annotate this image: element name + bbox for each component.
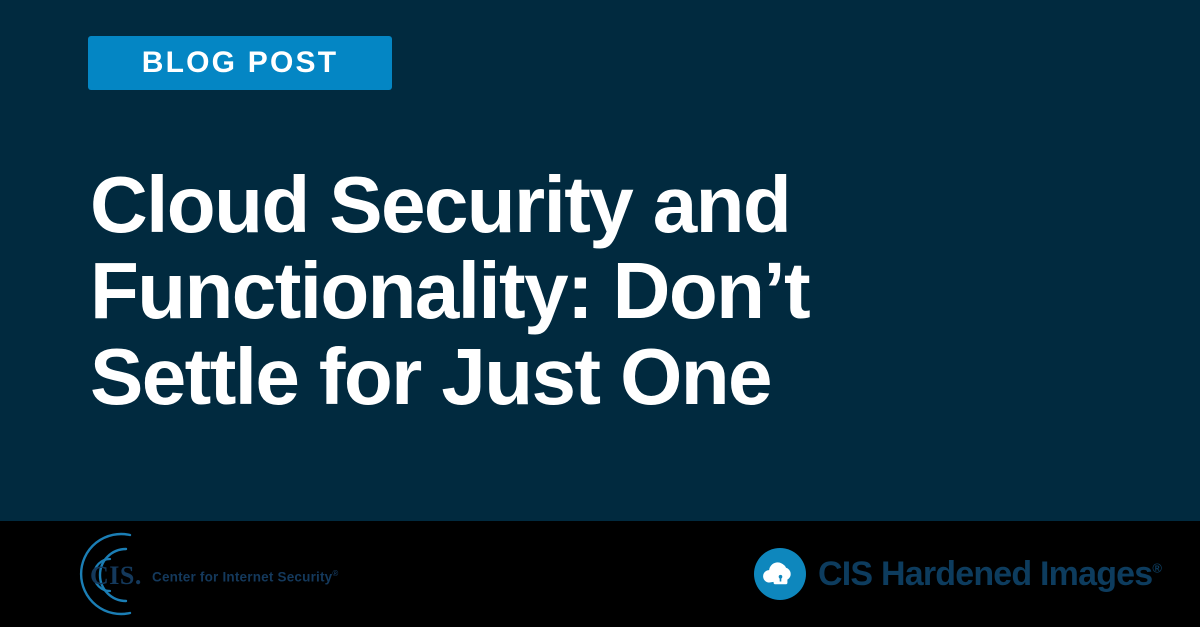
headline-line-3: Settle for Just One bbox=[90, 334, 1090, 420]
cis-hardened-images-registered-mark: ® bbox=[1152, 561, 1162, 576]
cis-tagline-registered-mark: ® bbox=[332, 569, 338, 578]
footer-bar: CIS. Center for Internet Security® bbox=[0, 521, 1200, 627]
cis-hardened-images-logo: CIS Hardened Images® bbox=[754, 548, 1162, 600]
cis-wordmark: CIS. bbox=[90, 563, 142, 589]
headline-line-1: Cloud Security and bbox=[90, 162, 1090, 248]
cloud-padlock-icon bbox=[754, 548, 806, 600]
headline-line-2: Functionality: Don’t bbox=[90, 248, 1090, 334]
blog-post-banner: BLOG POST Cloud Security and Functionali… bbox=[0, 0, 1200, 627]
cis-logo: CIS. Center for Internet Security® bbox=[70, 529, 339, 619]
cis-arcs-mark-icon: CIS. bbox=[70, 529, 148, 619]
cis-hardened-images-text: CIS Hardened Images bbox=[818, 555, 1152, 593]
badge-blog-post: BLOG POST bbox=[88, 36, 392, 90]
cis-tagline-text: Center for Internet Security bbox=[152, 570, 332, 585]
page-title: Cloud Security and Functionality: Don’t … bbox=[90, 162, 1090, 420]
badge-label: BLOG POST bbox=[142, 48, 338, 78]
cis-tagline: Center for Internet Security® bbox=[152, 569, 339, 585]
cis-hardened-images-wordmark: CIS Hardened Images® bbox=[818, 557, 1162, 591]
